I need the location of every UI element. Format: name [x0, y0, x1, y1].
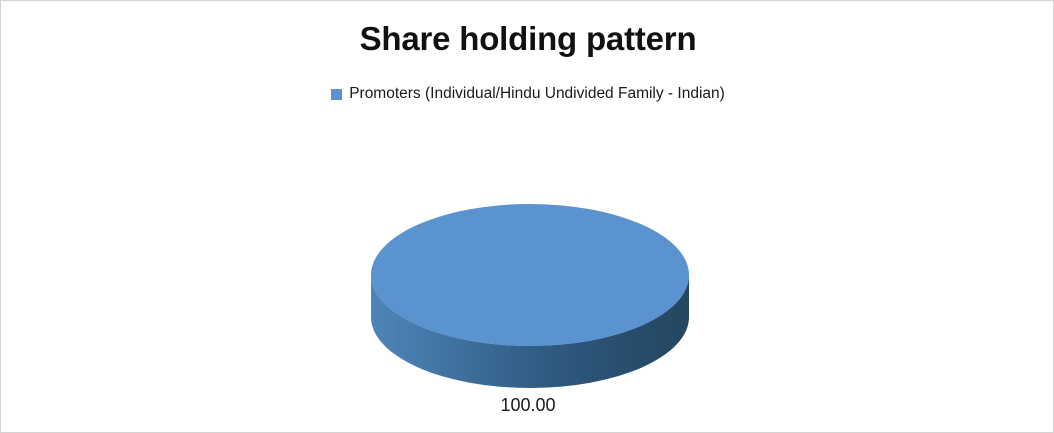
- pie-slice-promoters[interactable]: [371, 204, 689, 346]
- pie-data-label: 100.00: [1, 393, 1054, 417]
- legend-color-swatch-icon: [331, 89, 342, 100]
- pie-chart-3d: [371, 204, 689, 388]
- legend-item-label: Promoters (Individual/Hindu Undivided Fa…: [349, 85, 725, 103]
- chart-container: Share holding pattern Promoters (Individ…: [0, 0, 1054, 433]
- chart-title: Share holding pattern: [1, 19, 1054, 59]
- pie-chart-svg: [371, 204, 689, 388]
- legend-item-promoters[interactable]: Promoters (Individual/Hindu Undivided Fa…: [331, 85, 725, 103]
- chart-legend: Promoters (Individual/Hindu Undivided Fa…: [1, 85, 1054, 103]
